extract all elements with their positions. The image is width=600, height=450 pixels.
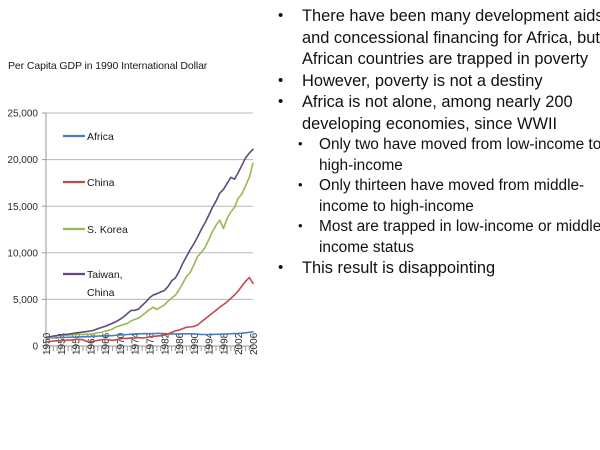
chart-plot-area: 05,00010,00015,00020,00025,0001950195419…: [0, 52, 268, 397]
x-axis-tick-label: 2002: [234, 332, 245, 355]
x-axis-tick-label: 1958: [72, 332, 83, 355]
bullet-item-level1: Africa is not alone, among nearly 200 de…: [272, 92, 600, 135]
bullet-text: This result is disappointing: [302, 258, 600, 280]
series-line-s-korea: [46, 163, 253, 338]
bullet-sublist-container: Only two have moved from low-income to h…: [272, 135, 600, 258]
legend-label-1: China: [87, 177, 115, 189]
bullet-text-panel: There have been many development aids an…: [272, 0, 600, 450]
x-axis-tick-label: 1986: [175, 332, 186, 355]
chart-svg: 05,00010,00015,00020,00025,0001950195419…: [0, 52, 268, 397]
y-axis-tick-label: 5,000: [13, 295, 38, 306]
bullet-item-level2: Only two have moved from low-income to h…: [290, 135, 600, 176]
slide-canvas: Per Capita GDP in 1990 International Dol…: [0, 0, 600, 450]
bullet-text: However, poverty is not a destiny: [302, 71, 600, 93]
y-axis-tick-label: 15,000: [7, 202, 38, 213]
legend-label-2: S. Korea: [87, 224, 128, 236]
bullet-item-level1: This result is disappointing: [272, 258, 600, 280]
bullet-sublist: Only two have moved from low-income to h…: [272, 135, 600, 258]
y-axis-tick-label: 25,000: [7, 109, 38, 120]
x-axis-tick-label: 1994: [205, 332, 216, 355]
bullet-text: Africa is not alone, among nearly 200 de…: [302, 92, 600, 135]
y-axis-tick-label: 20,000: [7, 155, 38, 166]
legend-label-4: China: [87, 287, 115, 299]
x-axis-tick-label: 1990: [190, 332, 201, 355]
bullet-item-level2: Most are trapped in low-income or middle…: [290, 217, 600, 258]
gdp-chart-panel: Per Capita GDP in 1990 International Dol…: [0, 52, 268, 397]
bullet-item-level2: Only thirteen have moved from middle-inc…: [290, 176, 600, 217]
x-axis-tick-label: 2006: [249, 332, 260, 355]
y-axis-tick-label: 10,000: [7, 248, 38, 259]
legend-label-3: Taiwan,: [87, 269, 123, 281]
bullet-item-level1: However, poverty is not a destiny: [272, 71, 600, 93]
legend-label-0: Africa: [87, 131, 114, 143]
bullet-item-level1: There have been many development aids an…: [272, 6, 600, 71]
x-axis-tick-label: 1998: [219, 332, 230, 355]
bullet-list: There have been many development aids an…: [272, 6, 600, 280]
x-axis-tick-label: 1974: [131, 332, 142, 355]
bullet-text: There have been many development aids an…: [302, 6, 600, 71]
y-axis-tick-label: 0: [32, 342, 38, 353]
